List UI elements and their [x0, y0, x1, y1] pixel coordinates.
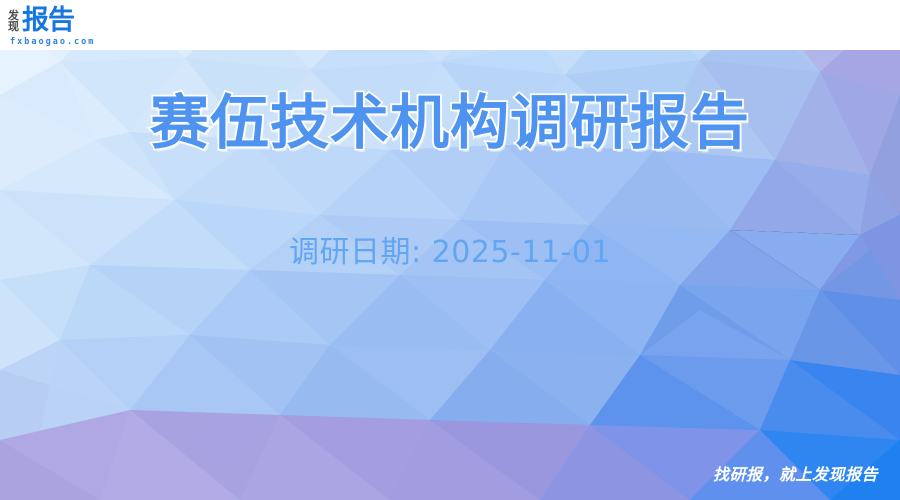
- cover-title-wrap: 赛伍技术机构调研报告: [0, 86, 900, 160]
- slogan-wrap: 找研报，就上发现报告: [713, 464, 878, 486]
- cover-subtitle-wrap: 调研日期: 2025-11-01: [0, 232, 900, 274]
- brand-slogan: 找研报，就上发现报告: [713, 465, 878, 484]
- logo-url: fxbaogao.com: [10, 37, 95, 47]
- logo-stacked-chars: 发 现: [8, 10, 19, 32]
- page-title: 赛伍技术机构调研报告: [150, 86, 750, 160]
- logo-wordmark-row: 发 现 报告: [8, 6, 74, 36]
- site-logo[interactable]: 发 现 报告 fxbaogao.com: [8, 6, 95, 50]
- logo-char-xian: 现: [8, 21, 19, 32]
- report-cover-slide: 发 现 报告 fxbaogao.com 赛伍技术机构调研报告 调研日期: 202…: [0, 0, 900, 500]
- logo-wordmark: 报告: [22, 7, 74, 35]
- survey-date-subtitle: 调研日期: 2025-11-01: [289, 232, 611, 274]
- header-bar: [0, 0, 900, 50]
